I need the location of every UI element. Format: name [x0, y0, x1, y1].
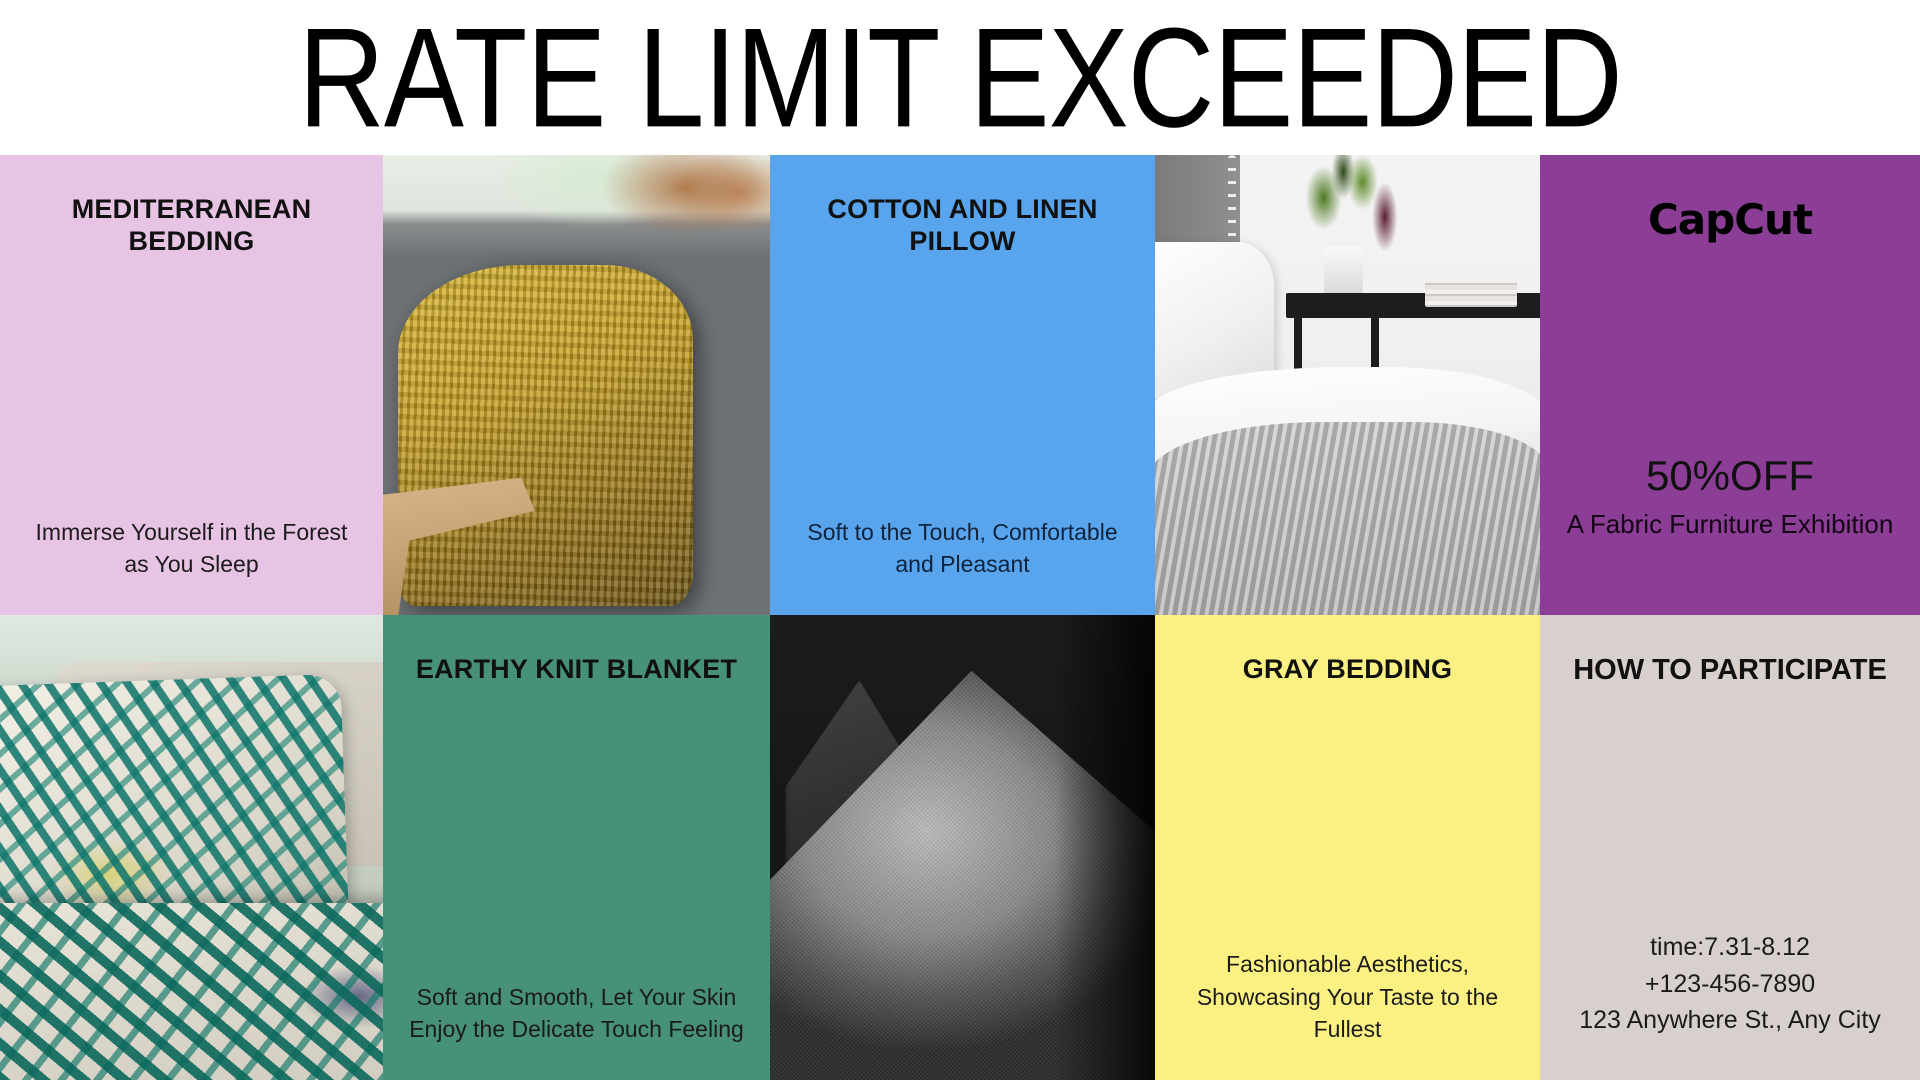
participate-title: HOW TO PARTICIPATE	[1573, 653, 1887, 688]
cell-how-to-participate[interactable]: HOW TO PARTICIPATE time:7.31-8.12 +123-4…	[1540, 615, 1920, 1080]
contact-block: time:7.31-8.12 +123-456-7890 123 Anywher…	[1562, 929, 1898, 1038]
promo-block: 50%OFF A Fabric Furniture Exhibition	[1562, 453, 1898, 542]
cell-gray-bedding[interactable]: GRAY BEDDING Fashionable Aesthetics, Sho…	[1155, 615, 1540, 1080]
stacked-books-shape	[1425, 279, 1517, 307]
palm-cushion-lower-shape	[0, 903, 383, 1080]
cell-earthy-knit-blanket[interactable]: EARTHY KNIT BLANKET Soft and Smooth, Let…	[383, 615, 770, 1080]
contact-phone[interactable]: +123-456-7890	[1562, 966, 1898, 1002]
header-banner: RATE LIMIT EXCEEDED	[0, 0, 1920, 155]
grey-bedding-photo	[1155, 155, 1540, 615]
product-grid: MEDITERRANEAN BEDDING Immerse Yourself i…	[0, 155, 1920, 1080]
yellow-knit-blanket-photo	[383, 155, 770, 615]
gray-bedding-subtitle: Fashionable Aesthetics, Showcasing Your …	[1181, 948, 1514, 1046]
grey-knit-blanket-shape	[1155, 422, 1540, 615]
right-shadow-overlay	[1055, 615, 1155, 1080]
cell-promo-capcut[interactable]: CapCut 50%OFF A Fabric Furniture Exhibit…	[1540, 155, 1920, 615]
promo-subtitle: A Fabric Furniture Exhibition	[1562, 507, 1898, 541]
cell-cotton-linen-pillow[interactable]: COTTON AND LINEN PILLOW Soft to the Touc…	[770, 155, 1155, 615]
mediterranean-title: MEDITERRANEAN BEDDING	[26, 193, 357, 258]
palm-leaf-pillows-photo	[0, 615, 383, 1080]
discount-label: 50%OFF	[1562, 453, 1898, 499]
poster-page: RATE LIMIT EXCEEDED MEDITERRANEAN BEDDIN…	[0, 0, 1920, 1080]
earthy-blanket-subtitle: Soft and Smooth, Let Your Skin Enjoy the…	[409, 981, 744, 1046]
gray-bedding-title: GRAY BEDDING	[1243, 653, 1452, 685]
earthy-blanket-title: EARTHY KNIT BLANKET	[416, 653, 737, 685]
cotton-pillow-subtitle: Soft to the Touch, Comfortable and Pleas…	[796, 516, 1129, 581]
page-title: RATE LIMIT EXCEEDED	[298, 7, 1622, 149]
mediterranean-subtitle: Immerse Yourself in the Forest as You Sl…	[26, 516, 357, 581]
cotton-pillow-title: COTTON AND LINEN PILLOW	[796, 193, 1129, 258]
capcut-logo: CapCut	[1648, 195, 1812, 244]
cell-mediterranean-bedding[interactable]: MEDITERRANEAN BEDDING Immerse Yourself i…	[0, 155, 383, 615]
contact-time: time:7.31-8.12	[1562, 929, 1898, 965]
contact-address: 123 Anywhere St., Any City	[1562, 1002, 1898, 1038]
dark-linen-pillow-photo	[770, 615, 1155, 1080]
